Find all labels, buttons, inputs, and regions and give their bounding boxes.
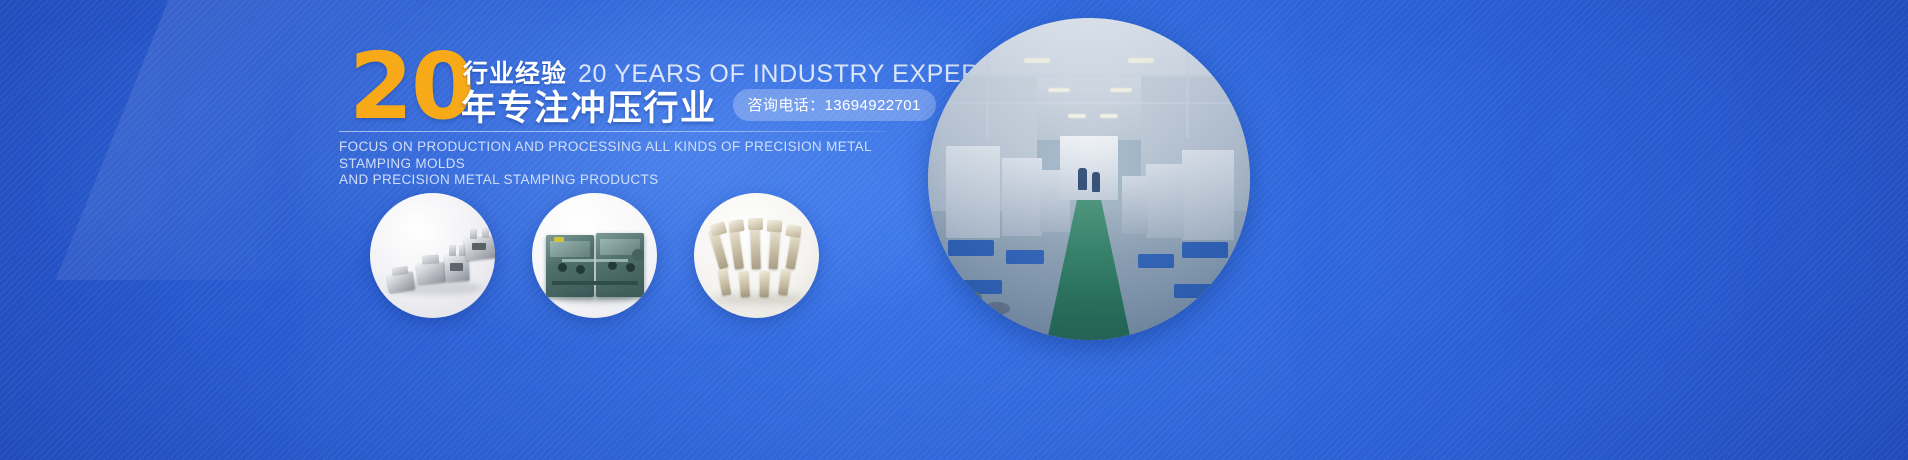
description-line-1: FOCUS ON PRODUCTION AND PROCESSING ALL K…	[339, 139, 939, 172]
years-number: 20	[349, 44, 473, 130]
subhead-row: 年专注冲压行业 咨询电话：13694922701	[461, 84, 936, 126]
banner-content: 20 行业经验 20 YEARS OF INDUSTRY EXPERIENCE …	[0, 0, 1908, 460]
product-image-pins[interactable]	[694, 193, 819, 318]
phone-badge[interactable]: 咨询电话：13694922701	[733, 89, 936, 121]
product-image-connectors[interactable]	[370, 193, 495, 318]
product-image-mold[interactable]	[532, 193, 657, 318]
subhead-cn: 年专注冲压行业	[461, 80, 717, 131]
divider	[339, 131, 887, 132]
factory-photo[interactable]	[928, 18, 1250, 340]
description-line-2: AND PRECISION METAL STAMPING PRODUCTS	[339, 172, 939, 189]
description-text: FOCUS ON PRODUCTION AND PROCESSING ALL K…	[339, 139, 939, 189]
promo-banner: 20 行业经验 20 YEARS OF INDUSTRY EXPERIENCE …	[0, 0, 1908, 460]
